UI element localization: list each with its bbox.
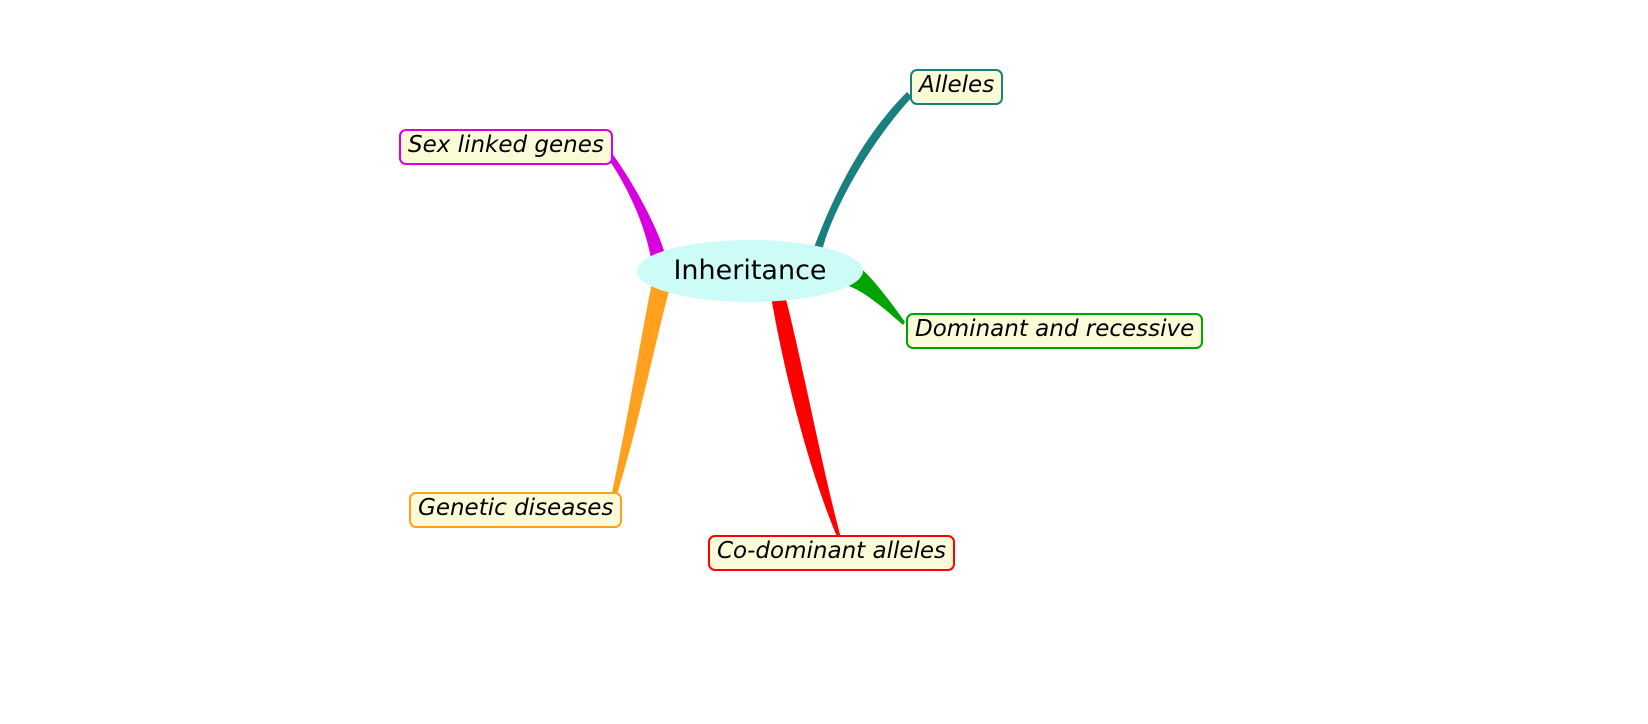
node-dominant-and-recessive[interactable]: Dominant and recessive — [906, 313, 1203, 349]
node-sex-linked-genes[interactable]: Sex linked genes — [399, 129, 613, 165]
node-genetic-diseases-label: Genetic diseases — [418, 495, 613, 521]
node-co-dominant-alleles[interactable]: Co-dominant alleles — [708, 535, 955, 571]
node-sex-linked-genes-label: Sex linked genes — [408, 132, 604, 158]
node-alleles-label: Alleles — [919, 72, 994, 98]
mindmap-canvas — [0, 0, 1648, 724]
node-co-dominant-alleles-label: Co-dominant alleles — [717, 538, 946, 564]
branch-co-dominant-alleles — [770, 288, 841, 539]
node-genetic-diseases[interactable]: Genetic diseases — [409, 492, 622, 528]
node-alleles[interactable]: Alleles — [910, 69, 1003, 105]
branch-genetic-diseases — [611, 281, 672, 498]
branch-alleles — [810, 92, 912, 258]
center-node-label: Inheritance — [637, 255, 863, 286]
node-dominant-and-recessive-label: Dominant and recessive — [915, 316, 1194, 342]
